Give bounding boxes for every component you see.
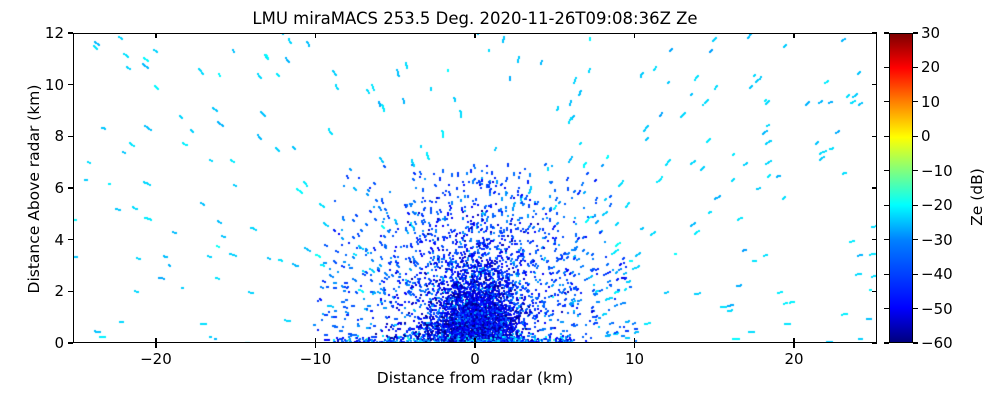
colorbar-tick-label: −30 [921, 231, 953, 249]
colorbar-tick-label: −10 [921, 162, 953, 180]
colorbar-tick-label: −60 [921, 334, 953, 352]
colorbar-tick [913, 136, 918, 137]
y-axis-tick [68, 84, 73, 85]
x-axis-label: Distance from radar (km) [73, 369, 877, 387]
y-axis-tick-right [872, 136, 877, 137]
colorbar [889, 33, 913, 343]
y-axis-tick [68, 239, 73, 240]
colorbar-tick-label: 20 [921, 58, 940, 76]
colorbar-tick [913, 308, 918, 309]
x-axis-tick [474, 343, 475, 348]
y-axis-tick [68, 136, 73, 137]
colorbar-tick [913, 32, 918, 33]
colorbar-tick-label: −40 [921, 265, 953, 283]
colorbar-tick [913, 67, 918, 68]
x-axis-tick-label: 0 [470, 350, 480, 368]
x-axis-tick-inner [155, 338, 156, 343]
x-axis-tick-top [315, 33, 316, 38]
y-axis-tick-right [872, 84, 877, 85]
y-axis-tick-right [872, 342, 877, 343]
x-axis-tick-label: −10 [300, 350, 332, 368]
x-axis-tick-top [474, 33, 475, 38]
y-axis-tick [68, 291, 73, 292]
y-axis-label: Distance Above radar (km) [25, 34, 43, 344]
y-axis-tick-right [872, 239, 877, 240]
colorbar-tick-label: −50 [921, 300, 953, 318]
scatter-plot-axes [73, 33, 877, 343]
figure: LMU miraMACS 253.5 Deg. 2020-11-26T09:08… [0, 0, 1000, 400]
x-axis-tick [315, 343, 316, 348]
x-axis-tick [155, 343, 156, 348]
x-axis-tick [793, 343, 794, 348]
x-axis-tick-top [155, 33, 156, 38]
y-axis-tick-right [872, 291, 877, 292]
colorbar-tick [913, 239, 918, 240]
colorbar-tick [913, 101, 918, 102]
x-axis-tick [634, 343, 635, 348]
x-axis-tick-top [793, 33, 794, 38]
colorbar-tick-label: 10 [921, 93, 940, 111]
y-axis-tick [68, 342, 73, 343]
colorbar-tick [913, 170, 918, 171]
y-axis-tick [68, 187, 73, 188]
x-axis-tick-inner [634, 338, 635, 343]
colorbar-tick [913, 205, 918, 206]
colorbar-tick [913, 342, 918, 343]
y-axis-tick-right [872, 32, 877, 33]
colorbar-tick [913, 274, 918, 275]
x-axis-tick-label: −20 [140, 350, 172, 368]
x-axis-tick-inner [793, 338, 794, 343]
x-axis-tick-label: 20 [785, 350, 804, 368]
y-axis-tick-right [872, 187, 877, 188]
colorbar-tick-label: 0 [921, 127, 931, 145]
y-axis-tick [68, 32, 73, 33]
x-axis-tick-inner [315, 338, 316, 343]
scatter-points-canvas [74, 34, 877, 343]
x-axis-tick-top [634, 33, 635, 38]
x-axis-tick-label: 10 [625, 350, 644, 368]
x-axis-tick-inner [474, 338, 475, 343]
colorbar-label: Ze (dB) [968, 42, 986, 352]
colorbar-tick-label: −20 [921, 196, 953, 214]
page-title: LMU miraMACS 253.5 Deg. 2020-11-26T09:08… [73, 9, 877, 28]
colorbar-tick-label: 30 [921, 24, 940, 42]
